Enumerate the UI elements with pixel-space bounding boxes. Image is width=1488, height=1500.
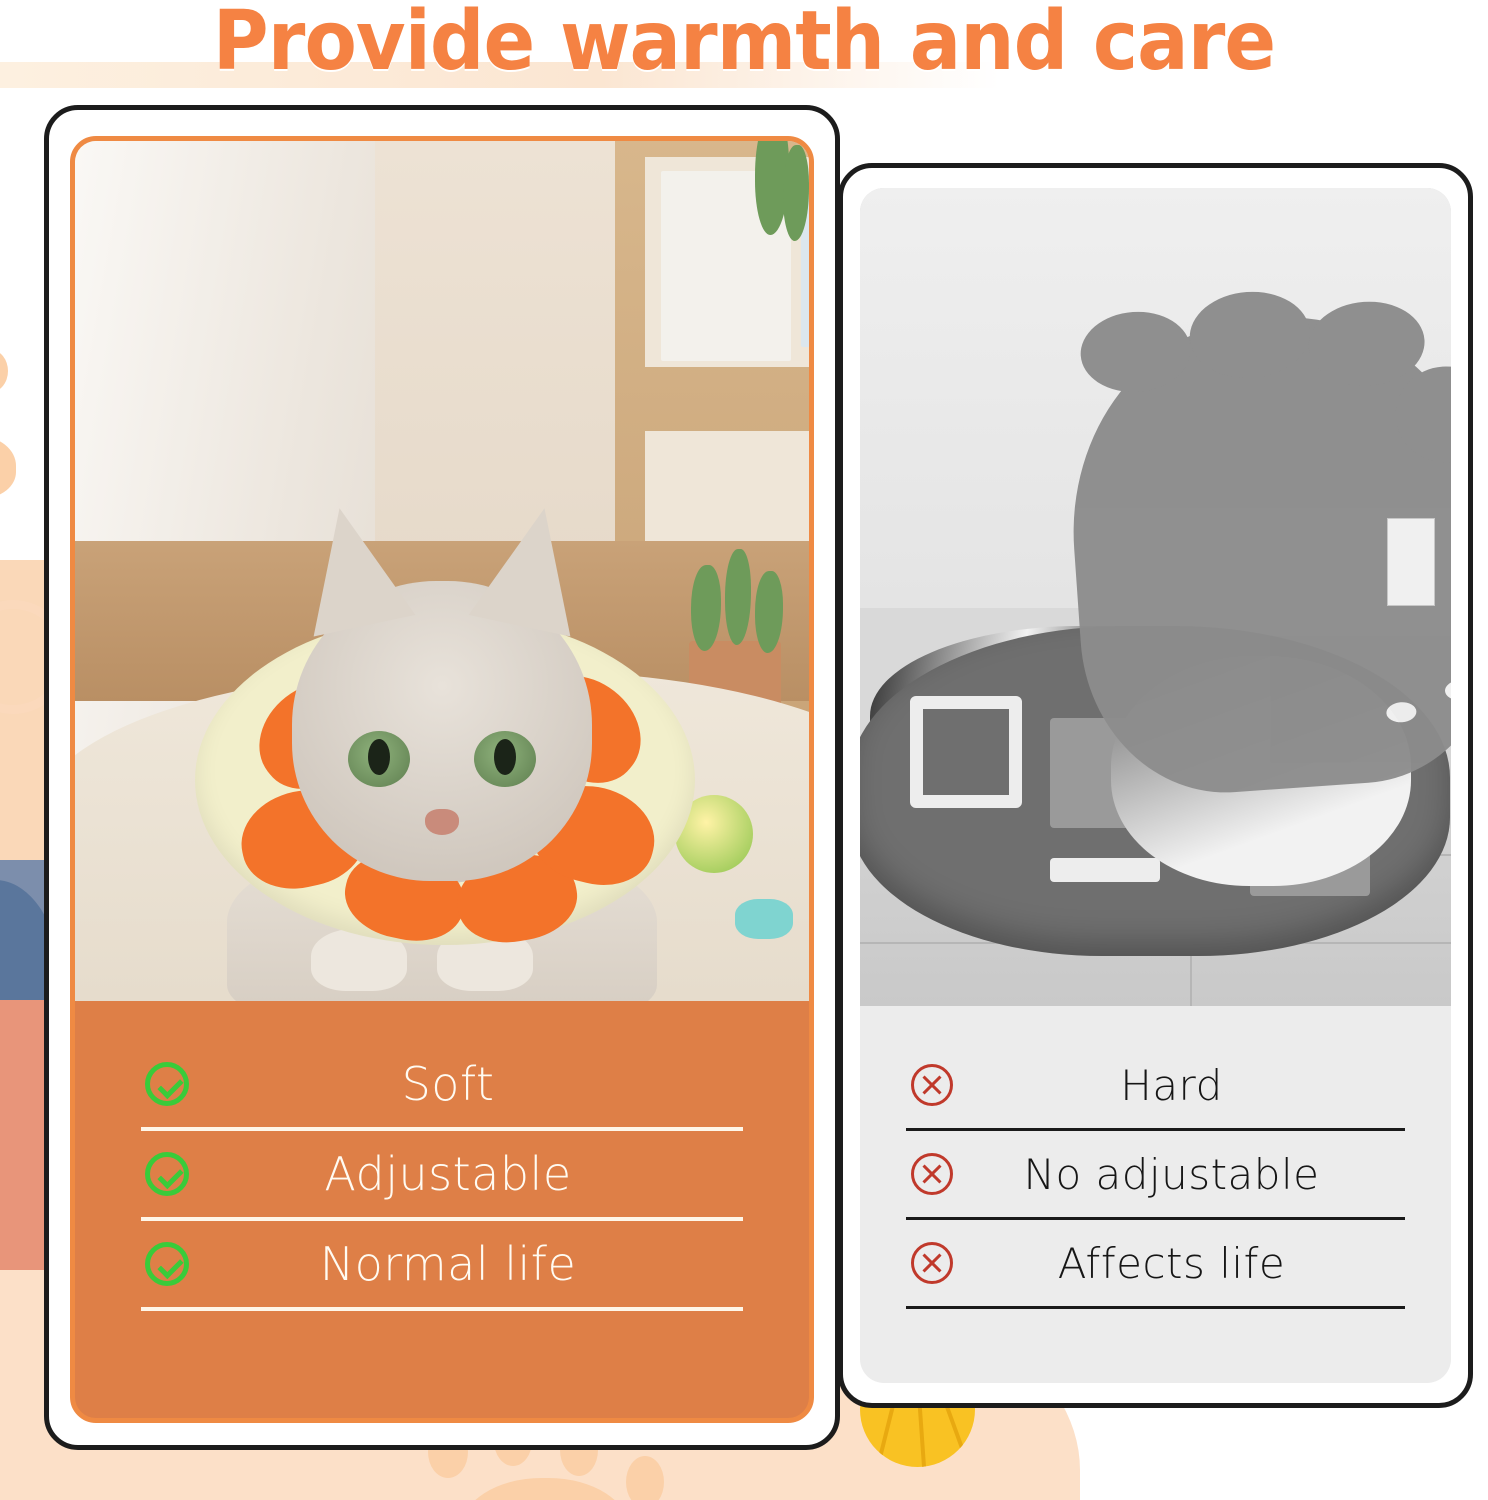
feature-label: Soft — [193, 1057, 743, 1111]
cross-circle-icon — [906, 1064, 958, 1106]
cat-head — [292, 581, 592, 881]
feature-row: Adjustable — [141, 1131, 743, 1217]
feature-row: Soft — [141, 1041, 743, 1127]
list-divider — [141, 1307, 743, 1311]
bad-product-inner-panel: Hard No adjustable Affects life — [860, 188, 1451, 1383]
bad-product-photo — [860, 188, 1451, 1006]
check-circle-icon — [141, 1152, 193, 1196]
cat-nose — [425, 809, 459, 835]
product-tag-label — [1387, 518, 1435, 606]
feature-label: Normal life — [193, 1237, 743, 1291]
feature-label: Hard — [958, 1061, 1405, 1110]
bad-product-card: Hard No adjustable Affects life — [838, 163, 1473, 1408]
cat-eye — [474, 731, 536, 787]
bed-pattern-square — [910, 696, 1022, 808]
photo-toy — [735, 899, 793, 939]
good-product-feature-list: Soft Adjustable Normal life — [75, 1001, 809, 1311]
feature-label: Affects life — [958, 1239, 1405, 1288]
page-title: Provide warmth and care — [52, 0, 1436, 89]
feature-label: No adjustable — [958, 1150, 1405, 1199]
feature-row: Hard — [906, 1042, 1405, 1128]
good-product-card: Soft Adjustable Normal life — [44, 105, 840, 1450]
good-product-photo — [75, 141, 809, 1001]
cross-circle-icon — [906, 1242, 958, 1284]
cross-circle-icon — [906, 1153, 958, 1195]
cone-hole — [1444, 679, 1451, 701]
feature-row: Affects life — [906, 1220, 1405, 1306]
bed-pattern-square — [1050, 858, 1160, 882]
check-circle-icon — [141, 1242, 193, 1286]
list-divider — [906, 1306, 1405, 1309]
feature-row: Normal life — [141, 1221, 743, 1307]
good-product-inner-panel: Soft Adjustable Normal life — [70, 136, 814, 1423]
cat-eye — [348, 731, 410, 787]
feature-row: No adjustable — [906, 1131, 1405, 1217]
cone-hole — [1386, 701, 1417, 723]
feature-label: Adjustable — [193, 1147, 743, 1201]
bad-product-feature-list: Hard No adjustable Affects life — [860, 1006, 1451, 1309]
check-circle-icon — [141, 1062, 193, 1106]
